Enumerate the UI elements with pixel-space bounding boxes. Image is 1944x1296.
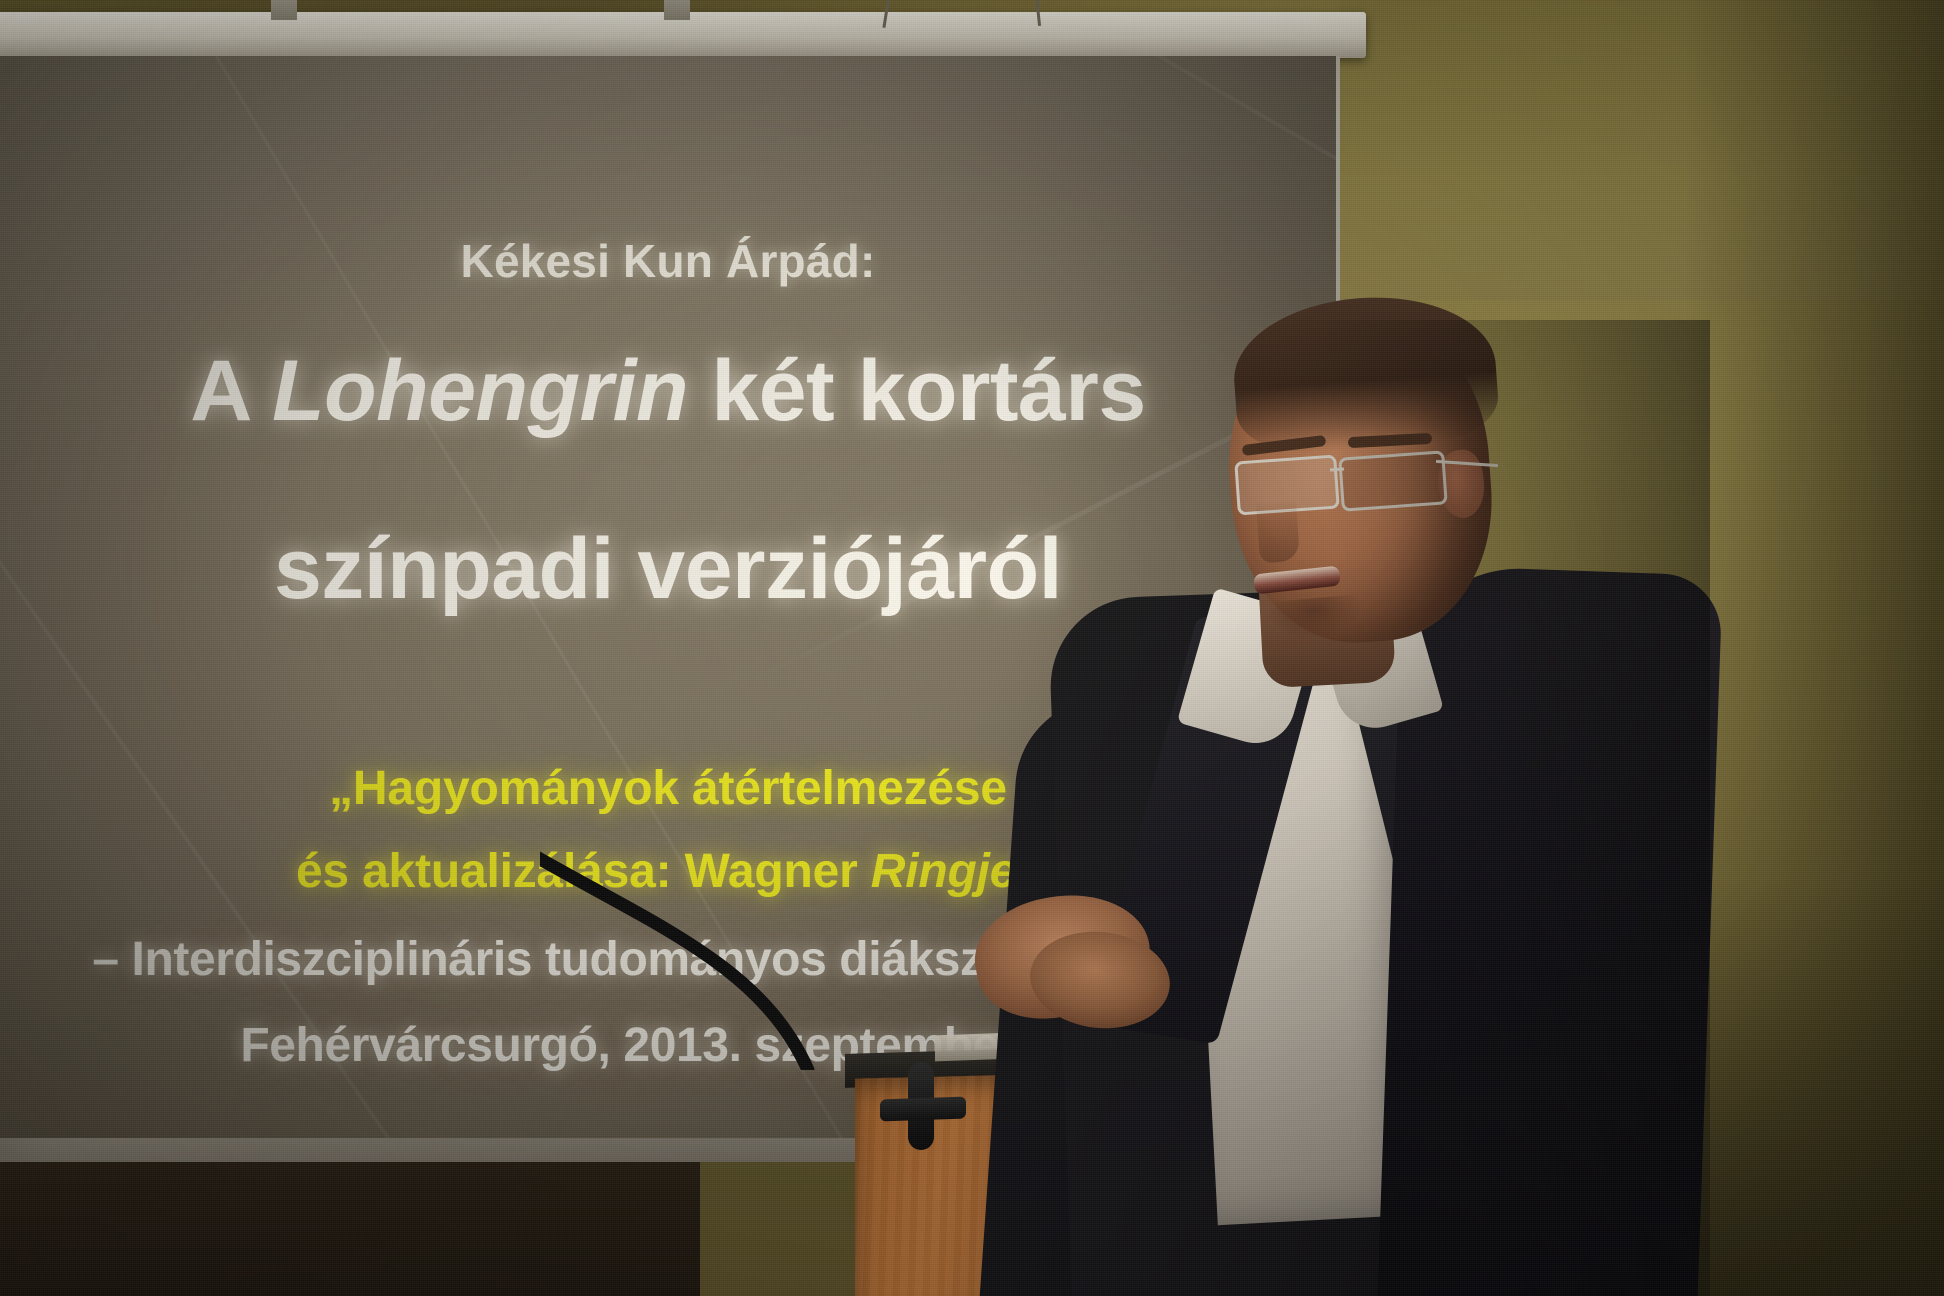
eyeglasses-lens-right [1338, 450, 1448, 511]
title-suffix: két kortárs [688, 343, 1146, 439]
slide-title-line-1: A Lohengrin két kortárs [0, 348, 1336, 436]
title-prefix: A [190, 343, 272, 439]
speaker-person [1150, 320, 1850, 1296]
microphone-base [880, 1096, 966, 1121]
screen-bracket-left [271, 0, 297, 20]
subtitle-work-name: Ringje [871, 845, 1016, 898]
nose [1256, 499, 1300, 564]
microphone-gooseneck-arm [540, 820, 870, 1070]
screen-bracket-right [664, 0, 690, 20]
screen-casing [0, 12, 1366, 58]
slide-author-line: Kékesi Kun Árpád: [0, 234, 1336, 288]
chin-shadow [1266, 594, 1365, 642]
title-work-name: Lohengrin [272, 343, 688, 439]
photo-canvas: Kékesi Kun Árpád: A Lohengrin két kortár… [0, 0, 1944, 1296]
gooseneck-microphone [540, 820, 870, 1070]
